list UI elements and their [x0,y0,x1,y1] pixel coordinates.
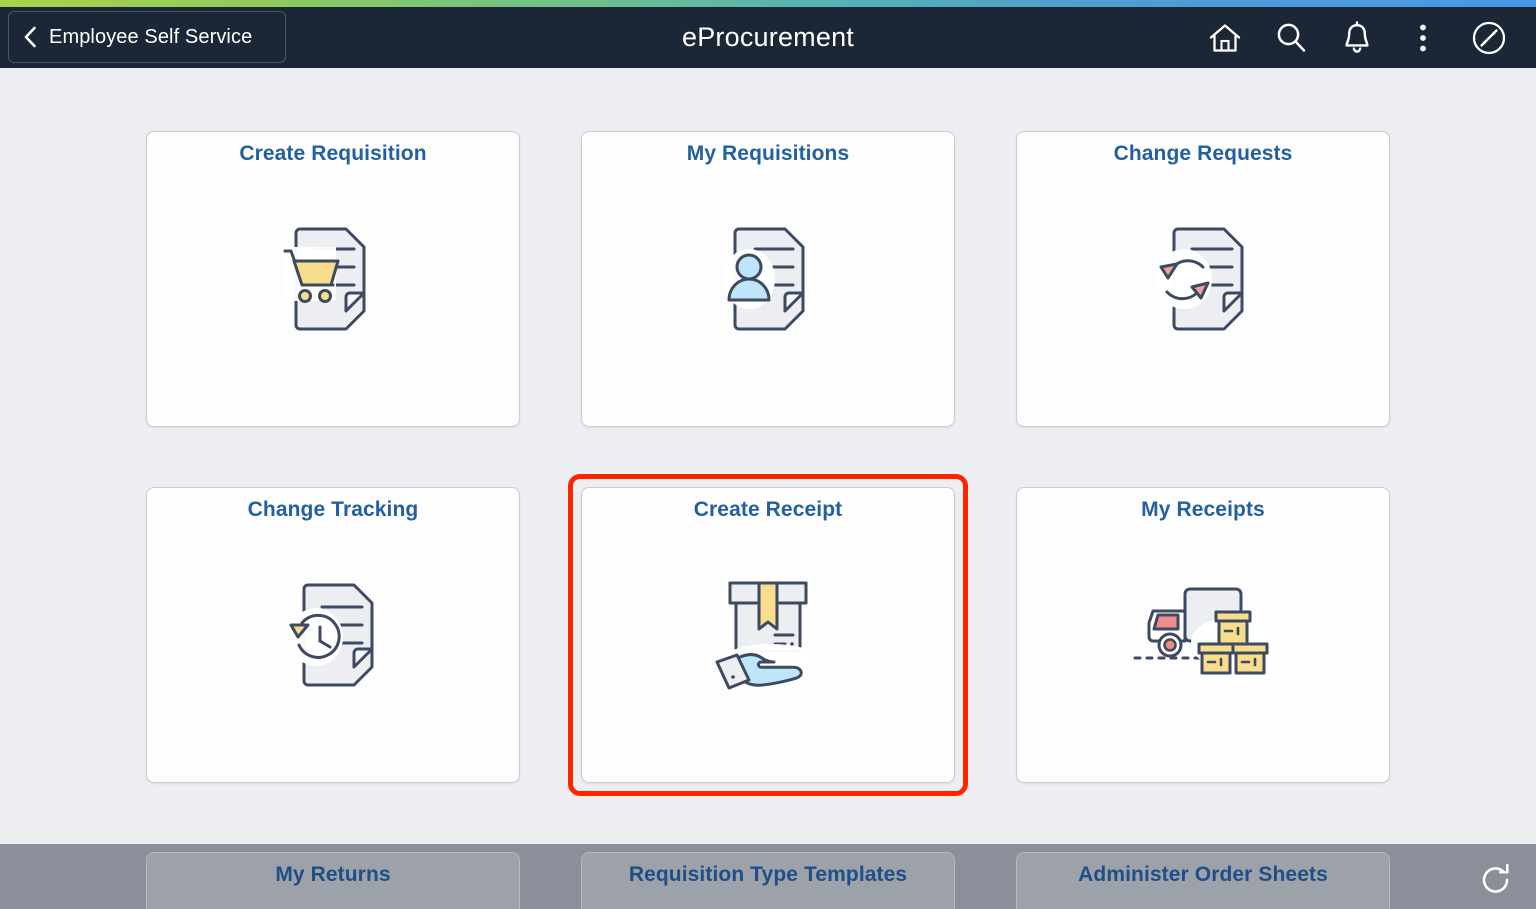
tile-administer-order-sheets[interactable]: Administer Order Sheets [1016,852,1390,909]
notifications-bell-icon[interactable] [1324,7,1390,68]
tile-title-change-requests: Change Requests [1017,142,1389,166]
brand-gradient-strip [0,0,1536,7]
tile-change-requests[interactable]: Change Requests [1016,131,1390,427]
tile-title-requisition-type-templates: Requisition Type Templates [582,863,954,887]
document-shopping-cart-icon [147,184,519,364]
back-button-label: Employee Self Service [49,26,252,49]
app-header-bar: Employee Self Service eProcurement [0,7,1536,68]
tile-my-receipts[interactable]: My Receipts [1016,487,1390,783]
tile-my-returns[interactable]: My Returns [146,852,520,909]
tile-title-my-requisitions: My Requisitions [582,142,954,166]
search-icon[interactable] [1258,7,1324,68]
tile-my-requisitions[interactable]: My Requisitions [581,131,955,427]
back-to-employee-self-service-button[interactable]: Employee Self Service [8,11,286,63]
tile-requisition-type-templates[interactable]: Requisition Type Templates [581,852,955,909]
tile-title-my-returns: My Returns [147,863,519,887]
home-icon[interactable] [1192,7,1258,68]
document-refresh-arrows-icon [1017,184,1389,364]
tile-title-change-tracking: Change Tracking [147,498,519,522]
chevron-left-icon [23,26,37,48]
eprocurement-homepage: Employee Self Service eProcurement [0,0,1536,909]
tile-create-receipt[interactable]: Create Receipt [581,487,955,783]
tile-change-tracking[interactable]: Change Tracking [146,487,520,783]
delivery-truck-boxes-icon [1017,540,1389,720]
tile-create-requisition[interactable]: Create Requisition [146,131,520,427]
document-person-icon [582,184,954,364]
tile-title-create-receipt: Create Receipt [582,498,954,522]
bottom-tile-row-loading-overlay: My Returns Requisition Type Templates Ad… [0,844,1536,909]
header-icon-group [1192,7,1522,68]
document-clock-history-icon [147,540,519,720]
tile-title-my-receipts: My Receipts [1017,498,1389,522]
navigator-compass-icon[interactable] [1456,7,1522,68]
actions-menu-icon[interactable] [1390,7,1456,68]
tile-title-administer-order-sheets: Administer Order Sheets [1017,863,1389,887]
package-in-hand-icon [582,540,954,720]
tile-title-create-requisition: Create Requisition [147,142,519,166]
tile-grid: Create Requisition [0,68,1536,844]
refresh-spinner-icon[interactable] [1478,862,1514,898]
